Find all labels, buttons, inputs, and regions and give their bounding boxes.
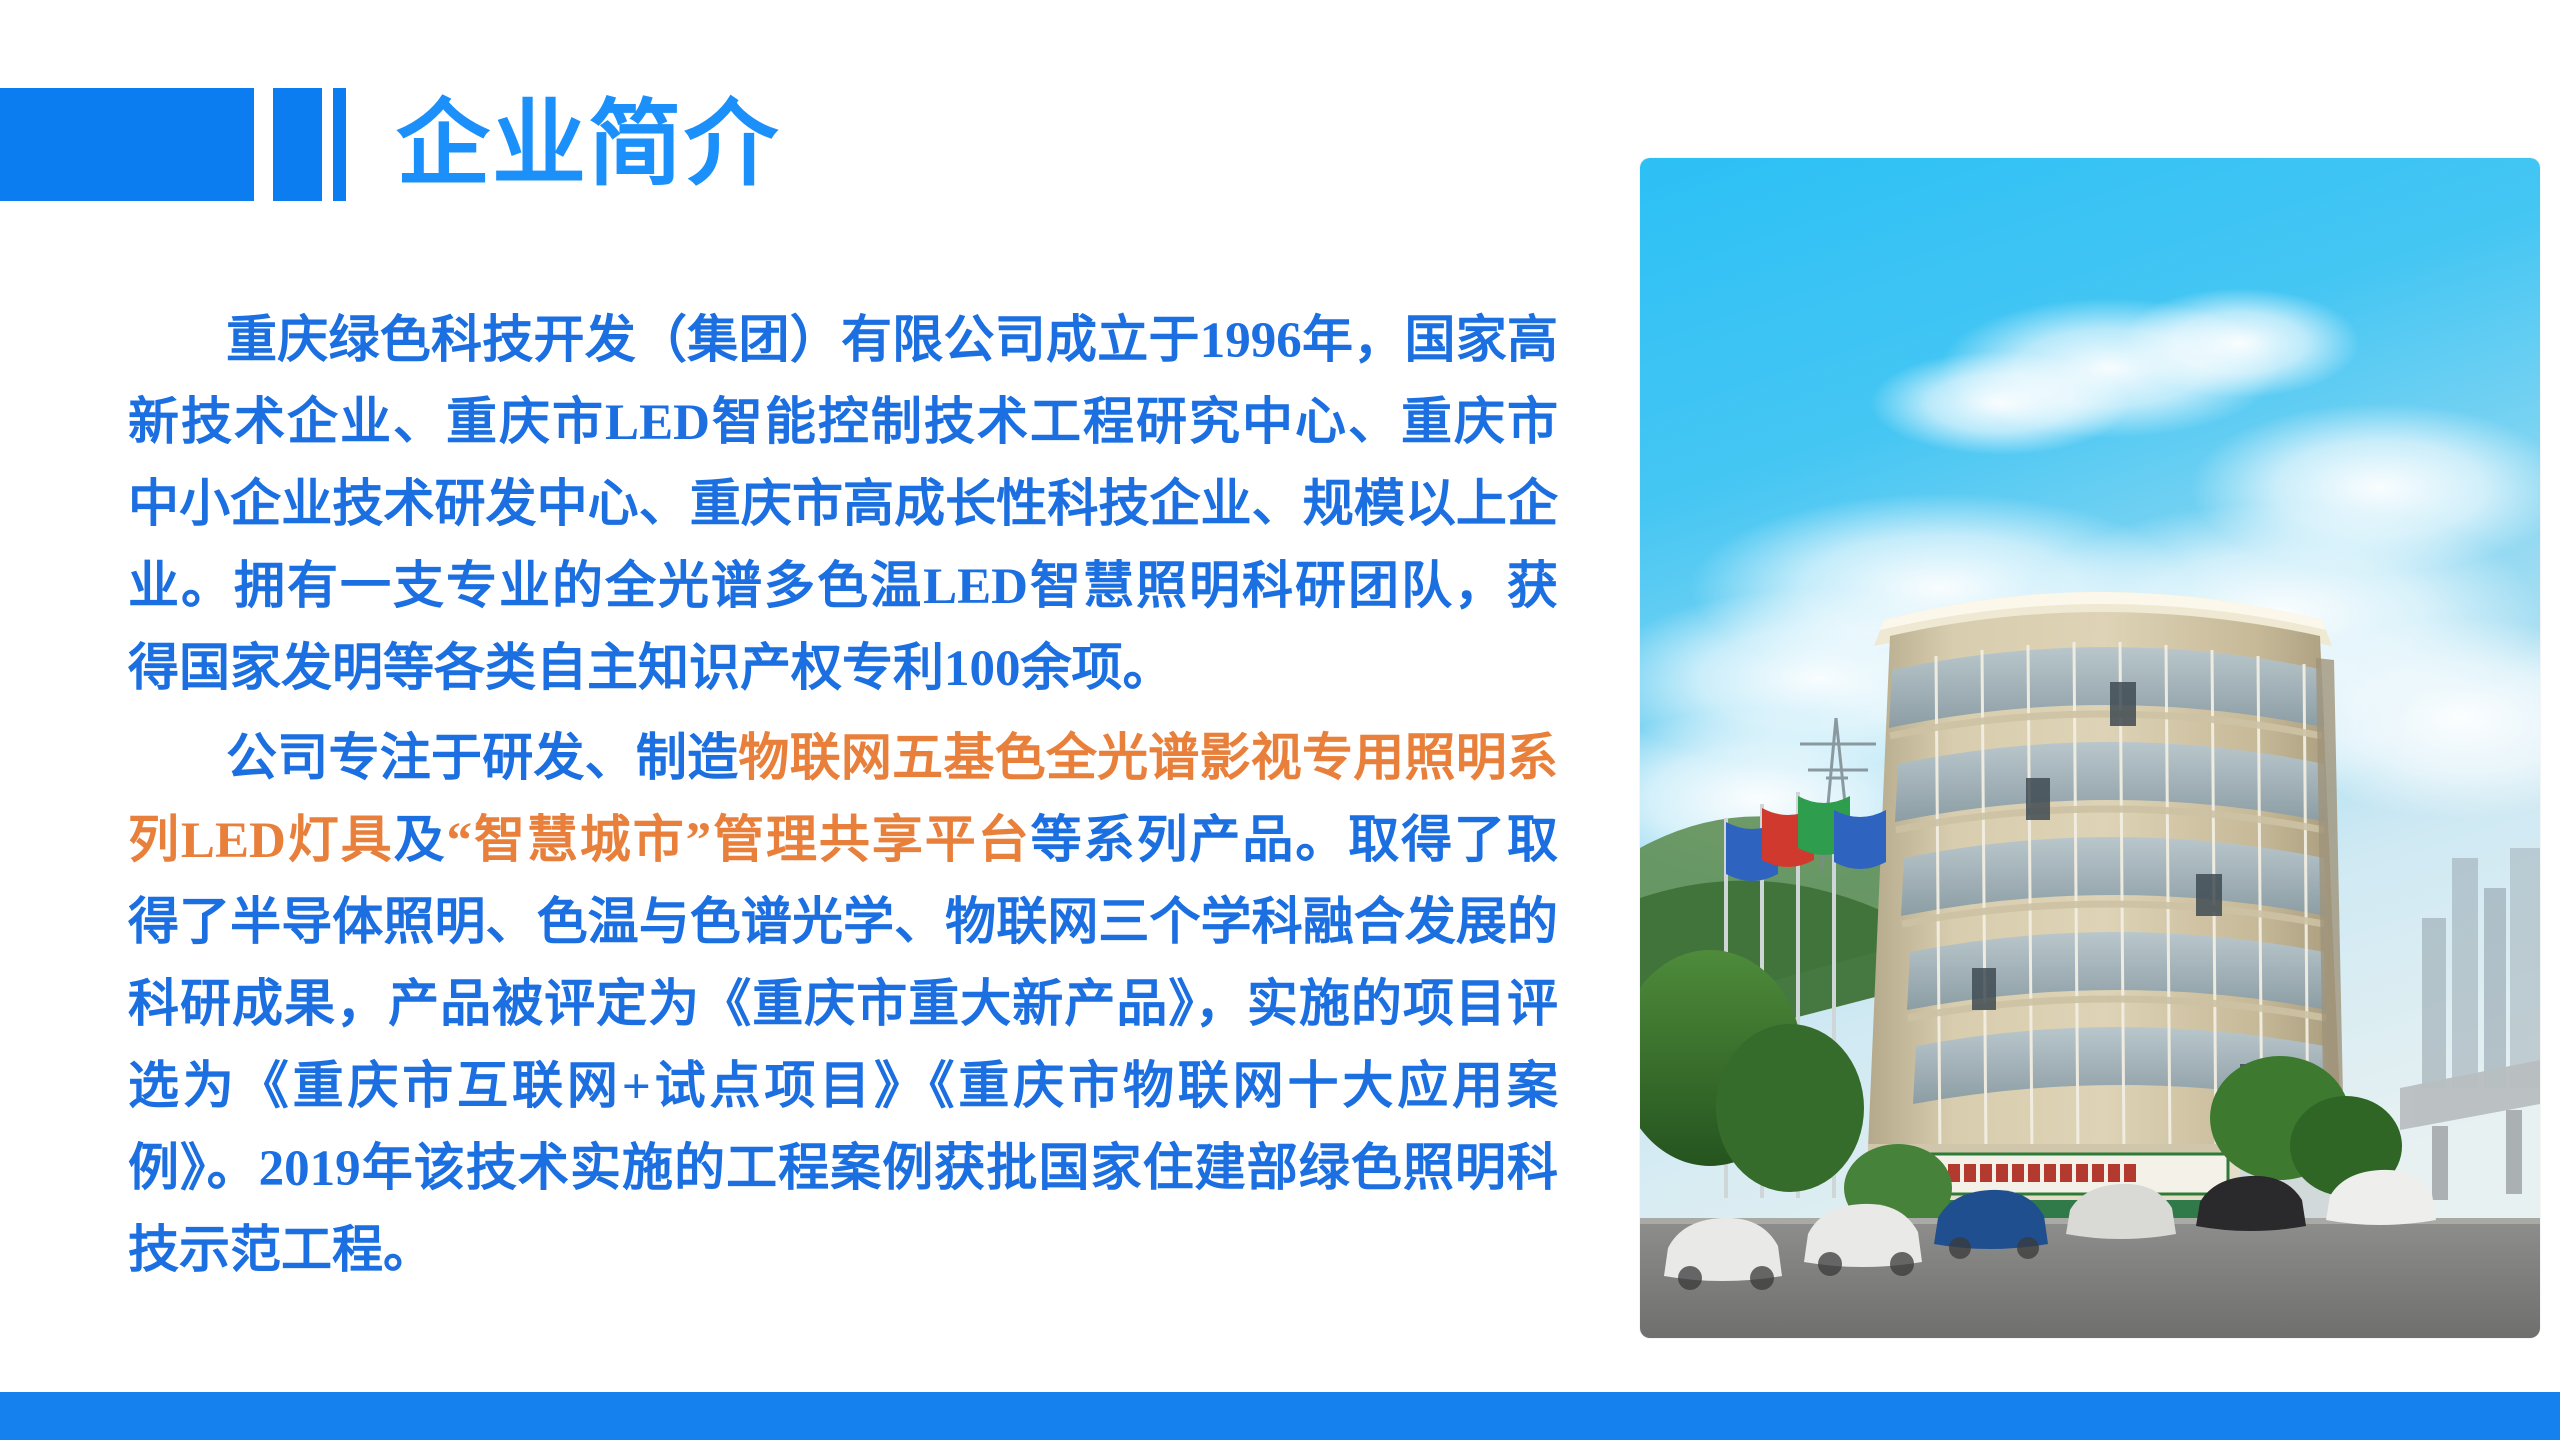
paragraph-2-highlight-2: “智慧城市”管理共享平台 <box>447 813 1031 869</box>
paragraph-1: 重庆绿色科技开发（集团）有限公司成立于1996年，国家高新技术企业、重庆市LED… <box>128 300 1558 710</box>
bottom-accent-bar <box>0 1392 2560 1440</box>
header-bar-thin <box>333 88 346 201</box>
header-bar-medium <box>273 88 322 201</box>
body-text-column: 重庆绿色科技开发（集团）有限公司成立于1996年，国家高新技术企业、重庆市LED… <box>128 300 1558 1292</box>
header-gap-1 <box>254 88 273 201</box>
building-photo-illustration <box>1640 158 2540 1338</box>
paragraph-2-seg-1: 公司专注于研发、制造 <box>226 731 738 787</box>
slide-header: 企业简介 <box>0 88 780 201</box>
page-title: 企业简介 <box>396 88 780 201</box>
paragraph-1-text: 重庆绿色科技开发（集团）有限公司成立于1996年，国家高新技术企业、重庆市LED… <box>128 313 1558 697</box>
header-block-decoration <box>0 88 254 201</box>
header-gap-2 <box>322 88 333 201</box>
paragraph-2-seg-3: 等系列产品。取得了取得了半导体照明、色温与色谱光学、物联网三个学科融合发展的科研… <box>128 813 1558 1279</box>
paragraph-2-seg-2: 及 <box>394 813 447 869</box>
building-photo <box>1640 158 2540 1338</box>
paragraph-2: 公司专注于研发、制造物联网五基色全光谱影视专用照明系列LED灯具及“智慧城市”管… <box>128 718 1558 1292</box>
bottom-bar-spacer <box>0 1384 2560 1392</box>
slide-root: 企业简介 重庆绿色科技开发（集团）有限公司成立于1996年，国家高新技术企业、重… <box>0 0 2560 1440</box>
